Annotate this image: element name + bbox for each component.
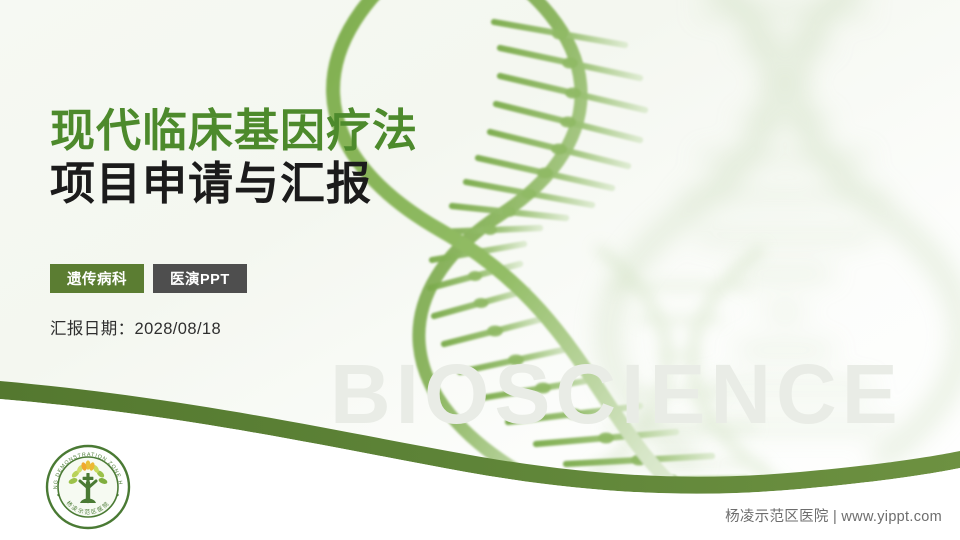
slide-canvas: BIOSCIENCE 现代临床基因疗法 项目申请与汇报 遗传病科 医演PPT 汇… — [0, 0, 960, 540]
hospital-logo-icon: YANGLING DEMONSTRATION ZONE HOSPITAL 杨凌示… — [44, 443, 132, 531]
tag-template: 医演PPT — [153, 264, 247, 293]
watermark-bioscience: BIOSCIENCE — [330, 352, 950, 436]
title-block: 现代临床基因疗法 项目申请与汇报 遗传病科 医演PPT 汇报日期：2028/08… — [50, 104, 520, 339]
report-date: 汇报日期：2028/08/18 — [50, 315, 520, 339]
page-title-line-2: 项目申请与汇报 — [50, 157, 520, 210]
footer-credit: 杨凌示范区医院 | www.yippt.com — [725, 505, 942, 526]
page-title-line-1: 现代临床基因疗法 — [50, 104, 520, 157]
tag-row: 遗传病科 医演PPT — [50, 264, 520, 293]
hospital-logo: YANGLING DEMONSTRATION ZONE HOSPITAL 杨凌示… — [44, 443, 132, 531]
tag-department: 遗传病科 — [50, 264, 144, 293]
